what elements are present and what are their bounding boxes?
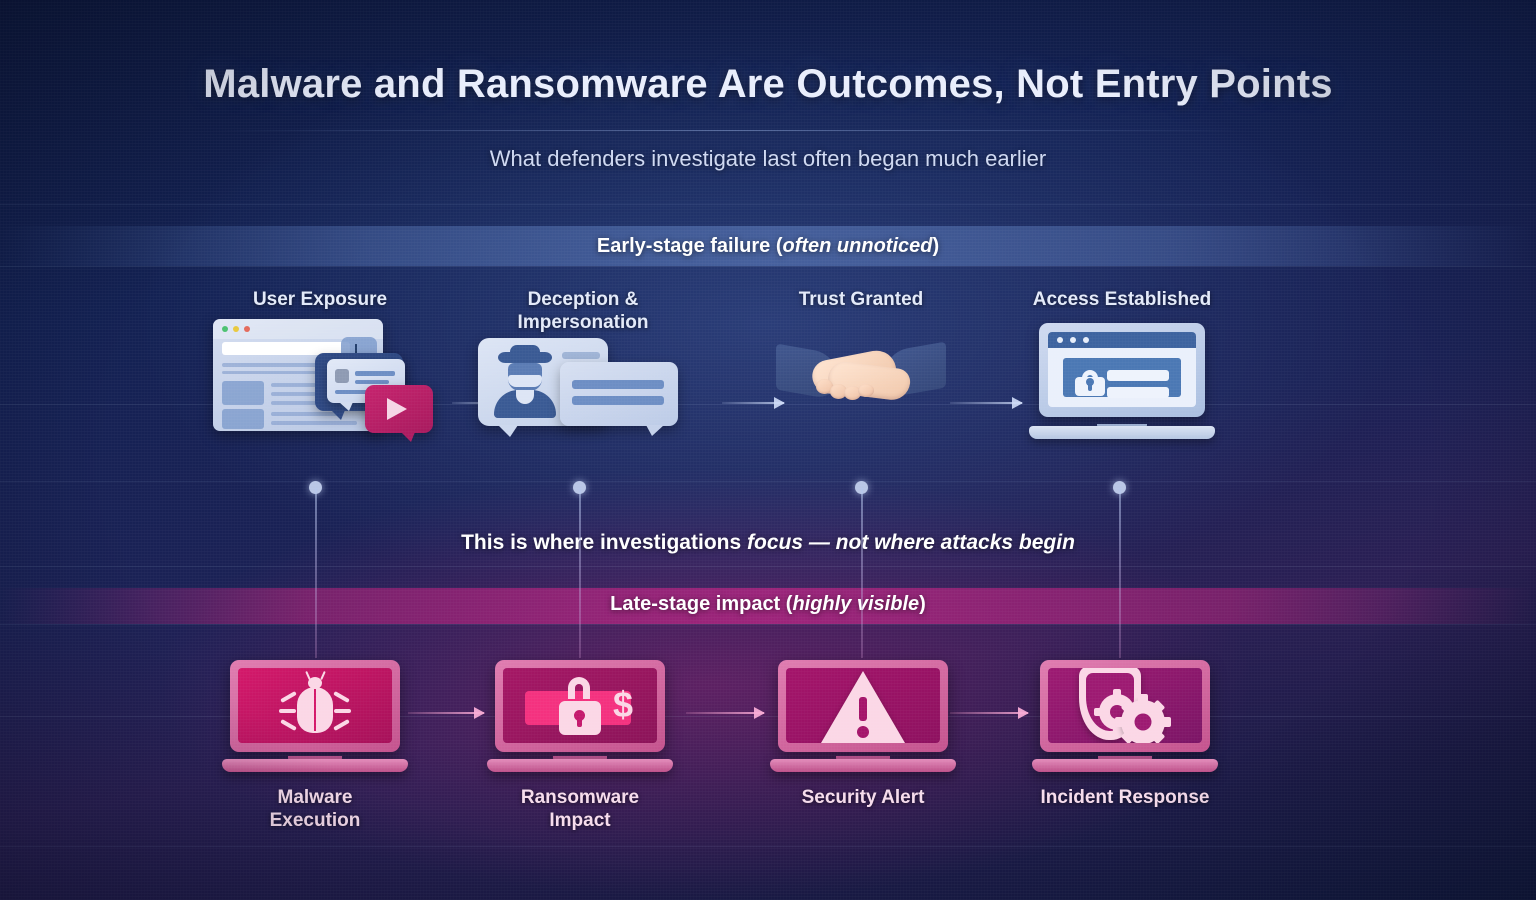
laptop-screen (786, 668, 940, 743)
laptop-warning-triangle-icon (748, 660, 978, 778)
laptop-graphic (1029, 323, 1215, 439)
shield-gears-icon (1077, 668, 1173, 743)
late-band-emphasis: highly visible (792, 593, 919, 615)
gear-large-icon (1121, 700, 1165, 744)
monitor-bezel (1040, 660, 1210, 752)
connector-line-4 (1119, 488, 1121, 658)
content-thumb-2 (222, 409, 264, 429)
early-stage-band-label: Early-stage failure (often unnoticed) (0, 235, 1536, 258)
chat-bubble-message-icon (560, 362, 678, 426)
login-field-2 (1107, 387, 1169, 398)
laptop-lid: $ (495, 660, 665, 752)
laptop-login-lock-icon (1007, 317, 1237, 447)
infographic-canvas: Malware and Ransomware Are Outcomes, Not… (0, 0, 1536, 900)
stage-label-deception-line2: Impersonation (468, 311, 698, 334)
investigation-focus-label: This is where investigations focus — not… (0, 531, 1536, 555)
stage-deception-impersonation[interactable]: Deception & Impersonation (468, 288, 698, 462)
late-band-tail: ) (919, 593, 926, 615)
laptop-malware-graphic (222, 660, 408, 772)
dollar-sign-icon: $ (613, 687, 633, 723)
monitor-base (1032, 759, 1218, 772)
laptop-screen: $ (503, 668, 657, 743)
laptop-lid (1039, 323, 1205, 417)
laptop-base (1029, 426, 1215, 439)
browser-window-with-chat-bubbles-icon (205, 317, 435, 447)
stage-ransomware-impact[interactable]: $ Ransomware Impact (465, 660, 695, 832)
traffic-light-red-icon (244, 326, 250, 332)
connector-line-3 (861, 488, 863, 658)
stage-label-deception-line1: Deception & (468, 288, 698, 311)
monitor-response-graphic (1032, 660, 1218, 772)
laptop-ransom-lock-dollar-icon: $ (465, 660, 695, 778)
stage-label-ransomware-impact: Ransomware Impact (465, 786, 695, 832)
page-subtitle: What defenders investigate last often be… (0, 146, 1536, 172)
laptop-base (222, 759, 408, 772)
warning-triangle-icon (821, 671, 905, 743)
stage-label-ransomware-line2: Impact (465, 809, 695, 832)
play-triangle-icon (387, 398, 407, 420)
laptop-alert-graphic (770, 660, 956, 772)
stage-security-alert[interactable]: Security Alert (748, 660, 978, 809)
monitor-screen (1048, 668, 1202, 743)
stage-trust-granted[interactable]: Trust Granted (746, 288, 976, 447)
page-title: Malware and Ransomware Are Outcomes, Not… (0, 62, 1536, 107)
ransom-lock-dollar-icon: $ (525, 677, 635, 735)
chat-bubble-pink-play-icon (365, 385, 433, 433)
laptop-bug-icon (200, 660, 430, 778)
handshake-icon (746, 317, 976, 447)
spy-figure-icon (494, 348, 556, 418)
login-field-1 (1107, 370, 1169, 381)
connector-line-1 (315, 488, 317, 658)
traffic-light-green-icon (222, 326, 228, 332)
middle-band-text: This is where investigations (461, 531, 747, 554)
handshake-graphic (776, 335, 946, 413)
content-thumb-1 (222, 381, 264, 405)
stage-label-trust-granted: Trust Granted (746, 288, 976, 311)
stage-label-malware-line2: Execution (200, 809, 430, 832)
stage-label-malware-line1: Malware (200, 786, 430, 809)
padlock-icon (1075, 370, 1105, 396)
middle-band-emphasis: focus — not where attacks begin (747, 531, 1075, 554)
stage-label-user-exposure: User Exposure (205, 288, 435, 311)
laptop-screen (1048, 332, 1196, 407)
padlock-icon (559, 677, 601, 735)
bug-icon (277, 675, 353, 737)
traffic-light-yellow-icon (233, 326, 239, 332)
stage-incident-response[interactable]: Incident Response (1010, 660, 1240, 809)
laptop-lid (778, 660, 948, 752)
early-band-emphasis: often unnoticed (782, 235, 932, 257)
laptop-lid (230, 660, 400, 752)
laptop-base (487, 759, 673, 772)
stage-access-established[interactable]: Access Established (1007, 288, 1237, 447)
stage-label-access-established: Access Established (1007, 288, 1237, 311)
title-divider (210, 130, 1250, 131)
screen-titlebar (1048, 332, 1196, 348)
connector-line-2 (579, 488, 581, 658)
early-band-tail: ) (932, 235, 939, 257)
login-panel (1063, 358, 1181, 397)
early-band-text: Early-stage failure ( (597, 235, 783, 257)
stage-user-exposure[interactable]: User Exposure (205, 288, 435, 447)
late-stage-row: Malware Execution (0, 660, 1536, 850)
stage-malware-execution[interactable]: Malware Execution (200, 660, 430, 832)
stage-label-security-alert: Security Alert (748, 786, 978, 809)
laptop-base (770, 759, 956, 772)
stage-label-incident-response: Incident Response (1010, 786, 1240, 809)
laptop-screen (238, 668, 392, 743)
stage-label-deception: Deception & Impersonation (468, 288, 698, 334)
early-stage-row: User Exposure (0, 288, 1536, 478)
stage-label-ransomware-line1: Ransomware (465, 786, 695, 809)
monitor-shield-gears-icon (1010, 660, 1240, 778)
laptop-ransomware-graphic: $ (487, 660, 673, 772)
browser-titlebar (213, 319, 383, 339)
stage-label-malware-execution: Malware Execution (200, 786, 430, 832)
spy-chat-bubble-icon (468, 332, 698, 462)
late-band-text: Late-stage impact ( (610, 593, 792, 615)
late-stage-band-label: Late-stage impact (highly visible) (0, 593, 1536, 616)
